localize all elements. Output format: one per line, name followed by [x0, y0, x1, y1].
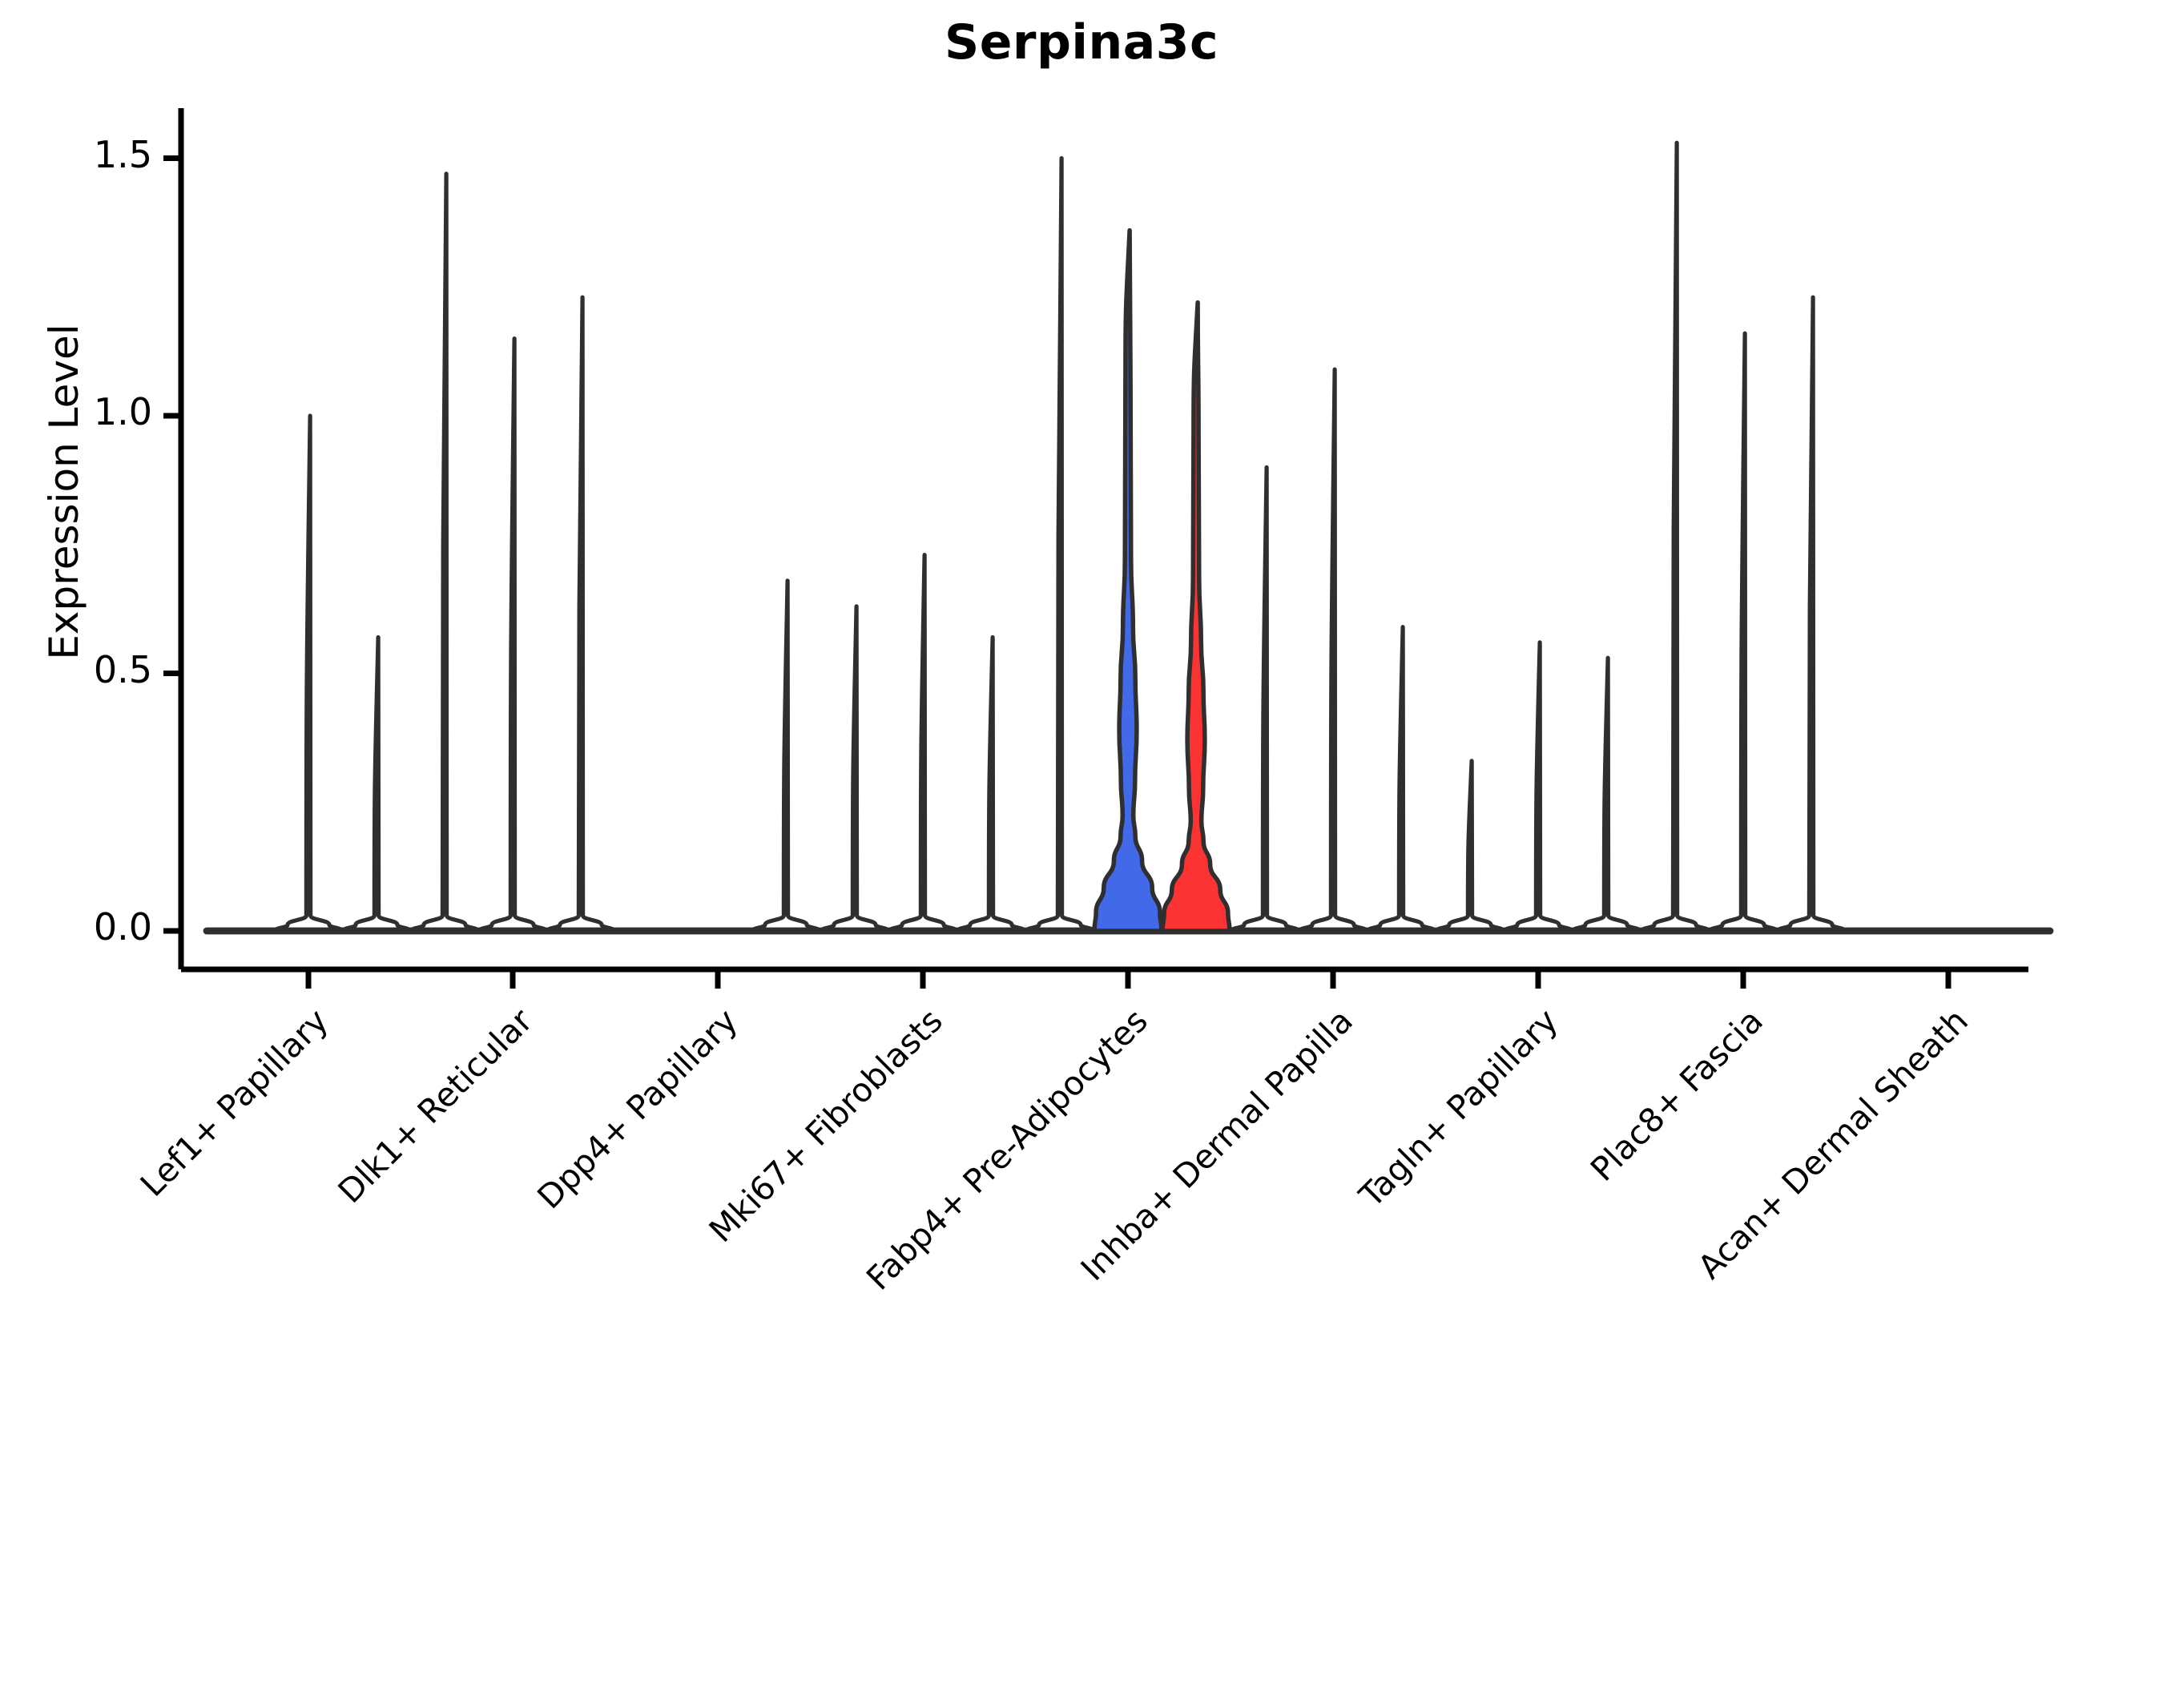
violin-spike: [1299, 369, 1367, 931]
violin-spike: [547, 297, 614, 931]
violin-group: [1026, 159, 1230, 932]
violin-group: [821, 555, 1025, 931]
violin-group: [207, 416, 410, 931]
violin-spike: [821, 606, 888, 931]
violin-spike: [343, 638, 410, 932]
violin-group: [1641, 143, 1845, 931]
violin-spike: [1367, 627, 1435, 931]
violin-shape-filled: [1162, 303, 1230, 932]
violin-spike: [411, 174, 478, 931]
violin-spike: [1573, 658, 1640, 931]
violin-spike: [479, 339, 546, 931]
violin-spike: [1778, 297, 1845, 931]
violin-spike: [1504, 643, 1572, 931]
violin-spike: [1710, 333, 1777, 931]
plot-canvas: [0, 0, 2163, 1442]
violin-spike: [889, 555, 957, 931]
violin-spike: [1641, 143, 1709, 931]
violin-spike: [1026, 159, 1094, 932]
violin-plot-figure: Serpina3c Expression Level 0.00.51.01.5 …: [0, 0, 2163, 1442]
violin-group: [1436, 643, 1640, 931]
violin-spike: [1436, 761, 1504, 931]
violin-spike: [957, 638, 1025, 932]
violin-spike: [752, 581, 820, 931]
violin-group: [1231, 369, 1435, 931]
violin-spike: [275, 416, 342, 931]
violin-spike: [1231, 467, 1299, 931]
violin-group: [411, 174, 614, 931]
violin-shape-filled: [1094, 231, 1162, 932]
violin-group: [616, 581, 820, 931]
